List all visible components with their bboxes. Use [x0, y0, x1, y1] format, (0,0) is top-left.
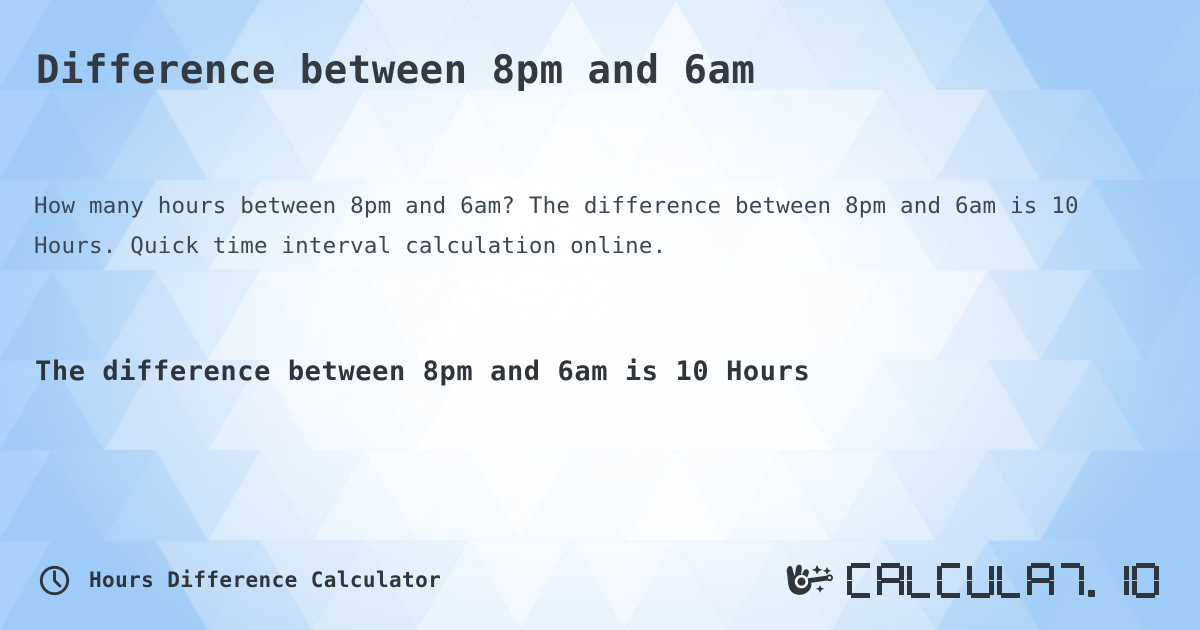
magic-wand-hand-icon — [783, 560, 841, 600]
footer-calculator-label: Hours Difference Calculator — [89, 568, 441, 592]
brand-char — [877, 563, 904, 598]
brand-char — [1057, 563, 1084, 598]
brand-logo[interactable] — [783, 560, 1162, 600]
brand-char — [937, 563, 964, 598]
footer: Hours Difference Calculator — [0, 550, 1200, 610]
brand-char — [907, 563, 934, 598]
page-title: Difference between 8pm and 6am — [36, 48, 755, 93]
footer-calculator-link[interactable]: Hours Difference Calculator — [38, 564, 441, 597]
brand-char — [997, 563, 1024, 598]
clock-icon — [38, 564, 71, 597]
brand-char — [847, 563, 874, 598]
brand-char — [1132, 563, 1159, 598]
brand-char — [1102, 563, 1129, 598]
result-statement: The difference between 8pm and 6am is 10… — [35, 356, 810, 387]
brand-name — [847, 560, 1162, 600]
brand-char — [1087, 563, 1099, 598]
description-text: How many hours between 8pm and 6am? The … — [34, 186, 1144, 266]
page-root: Difference between 8pm and 6am How many … — [0, 0, 1200, 630]
brand-char — [967, 563, 994, 598]
brand-char — [1027, 563, 1054, 598]
